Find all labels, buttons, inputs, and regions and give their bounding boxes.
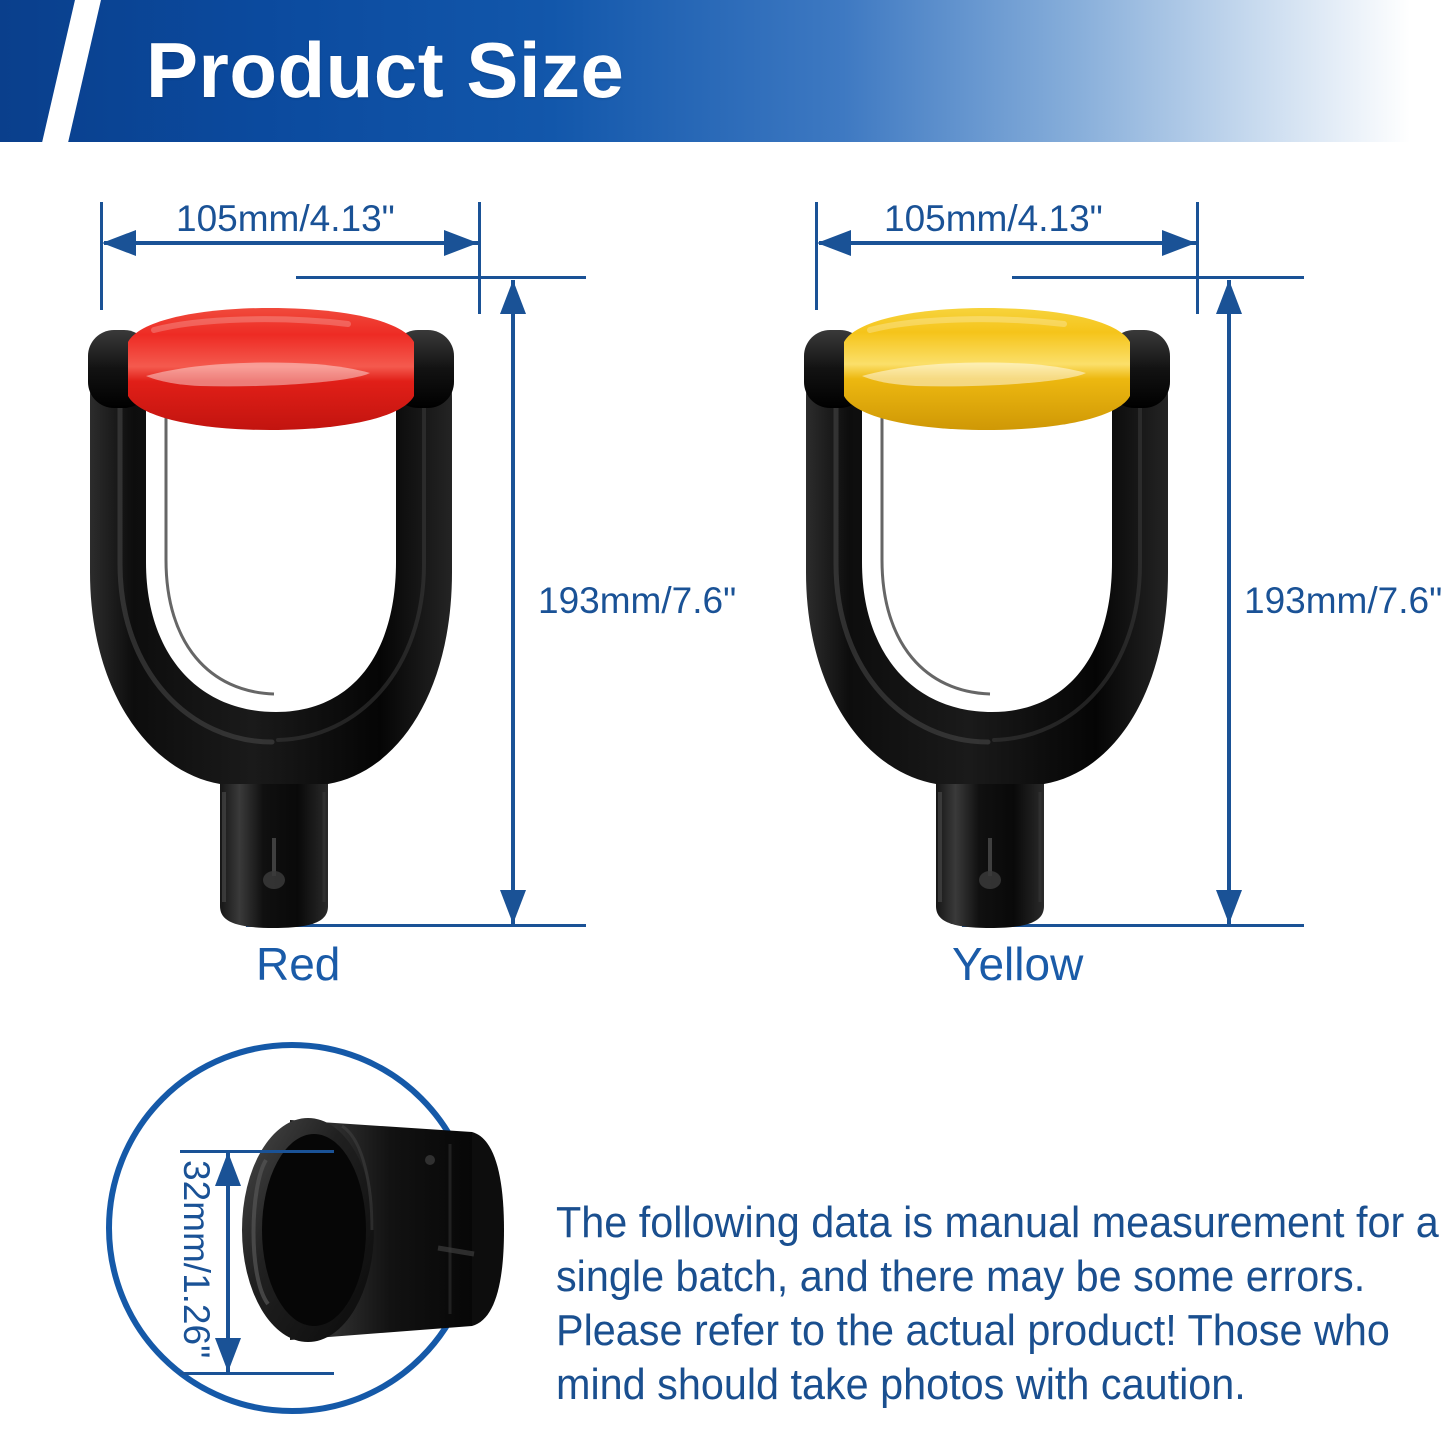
red-width-extension-right	[478, 202, 481, 314]
red-height-dimension-label: 193mm/7.6"	[538, 580, 736, 622]
red-width-dimension-line	[104, 241, 478, 245]
socket-diameter-extension-bottom	[180, 1372, 334, 1375]
disclaimer-line-1: The following data is manual measurement…	[556, 1196, 1393, 1250]
red-height-arrow-up-icon	[500, 280, 526, 314]
socket-diameter-arrow-up-icon	[215, 1152, 241, 1186]
red-width-arrow-left-icon	[102, 230, 136, 256]
yellow-width-dimension-line	[819, 241, 1196, 245]
red-height-dimension-line	[511, 280, 515, 924]
disclaimer-line-3: Please refer to the actual product! Thos…	[556, 1304, 1393, 1358]
socket-closeup-image	[222, 1098, 532, 1366]
red-width-dimension-label: 105mm/4.13"	[176, 198, 395, 240]
yellow-height-dimension-line	[1227, 280, 1231, 924]
yellow-height-dimension-label: 193mm/7.6"	[1244, 580, 1442, 622]
yellow-width-dimension-label: 105mm/4.13"	[884, 198, 1103, 240]
socket-diameter-label: 32mm/1.26"	[176, 1160, 216, 1358]
yellow-width-arrow-right-icon	[1162, 230, 1196, 256]
yellow-height-arrow-up-icon	[1216, 280, 1242, 314]
yellow-handle-image	[796, 272, 1176, 932]
disclaimer-line-2: single batch, and there may be some erro…	[556, 1250, 1393, 1304]
red-width-arrow-right-icon	[444, 230, 478, 256]
yellow-height-arrow-down-icon	[1216, 890, 1242, 924]
header-banner: Product Size	[0, 0, 1454, 142]
yellow-width-extension-right	[1196, 202, 1199, 314]
socket-diameter-extension-top	[180, 1150, 334, 1153]
red-color-label: Red	[256, 937, 340, 991]
yellow-width-arrow-left-icon	[817, 230, 851, 256]
socket-diameter-arrow-down-icon	[215, 1338, 241, 1372]
page-title: Product Size	[146, 16, 624, 124]
disclaimer-line-4: mind should take photos with caution.	[556, 1358, 1393, 1412]
red-height-arrow-down-icon	[500, 890, 526, 924]
diagonal-slash-icon	[38, 0, 104, 142]
yellow-color-label: Yellow	[952, 937, 1083, 991]
disclaimer-text: The following data is manual measurement…	[556, 1196, 1393, 1412]
red-handle-image	[80, 272, 460, 932]
